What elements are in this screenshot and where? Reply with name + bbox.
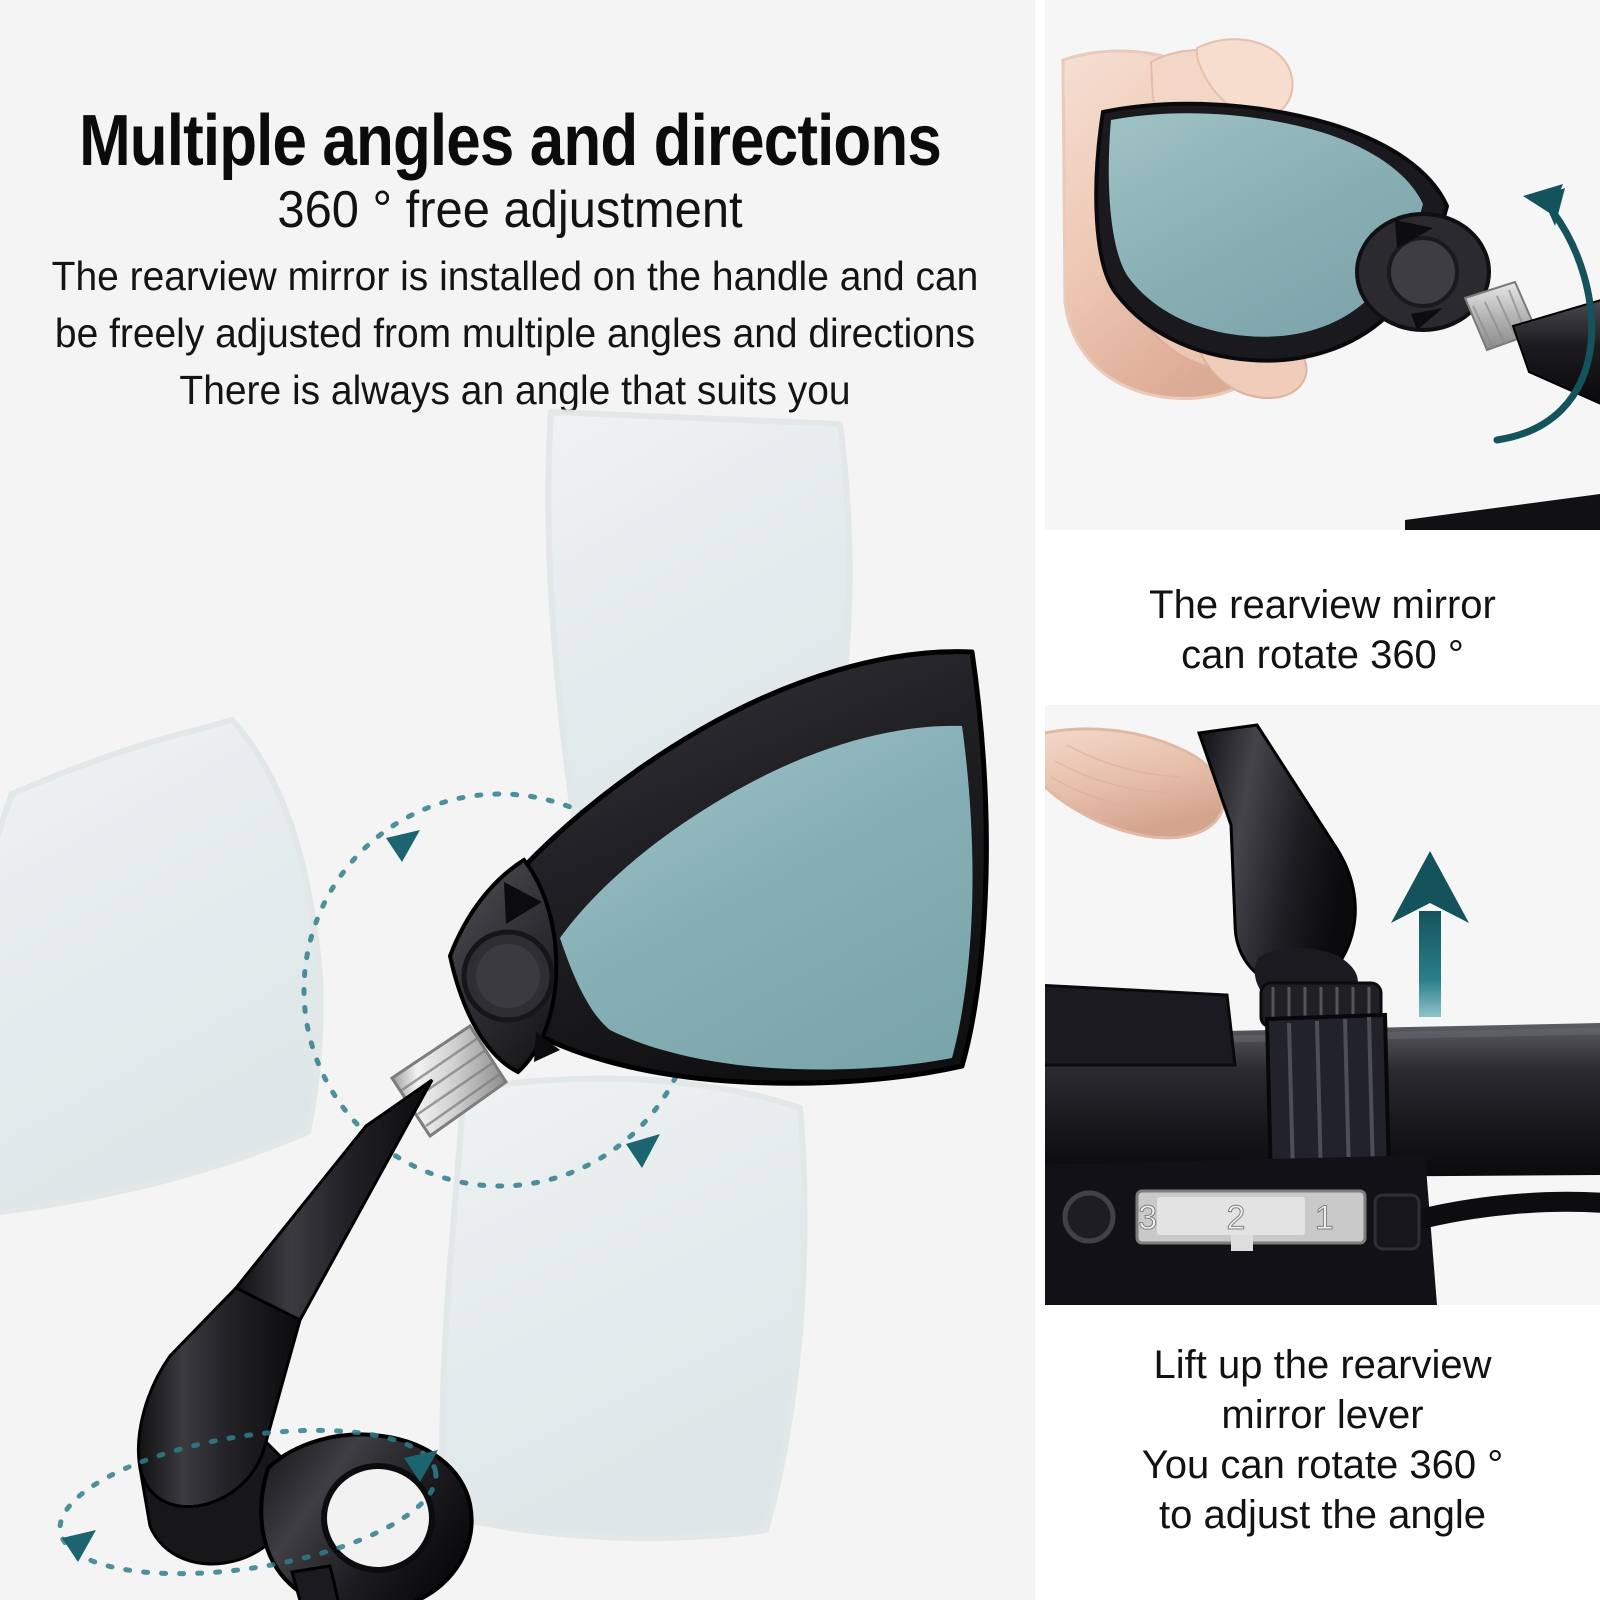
right-column: The rearview mirror can rotate 360 ° (1035, 0, 1600, 1600)
page-subtitle: 360 ° free adjustment (31, 180, 990, 240)
handlebar-clamp (261, 1434, 471, 1600)
page-title: Multiple angles and directions (71, 104, 948, 178)
base-arrow-left (62, 1530, 96, 1562)
infographic-page: Multiple angles and directions 360 ° fre… (0, 0, 1600, 1600)
hand-holding-mirror-photo (1045, 0, 1600, 530)
shifter-bolt (1065, 1193, 1113, 1241)
caption-bottom: Lift up the rearview mirror lever You ca… (1045, 1340, 1600, 1540)
caption-bottom-line-3: You can rotate 360 ° (1045, 1440, 1600, 1490)
pivot-hub-boss (476, 944, 540, 1008)
caption-bottom-line-1: Lift up the rearview (1045, 1340, 1600, 1390)
rotation-arrow-upper (386, 830, 420, 862)
lift-lever-on-handlebar-photo: 3 2 1 (1045, 705, 1600, 1305)
caption-top-line-2: can rotate 360 ° (1045, 630, 1600, 680)
caption-top: The rearview mirror can rotate 360 ° (1045, 580, 1600, 680)
body-line-2: be freely adjusted from multiple angles … (35, 305, 995, 362)
handlebar-bore (324, 1466, 432, 1570)
body-line-1: The rearview mirror is installed on the … (35, 248, 995, 305)
ghost-mirror-left (0, 720, 320, 1214)
caption-bottom-line-4: to adjust the angle (1045, 1490, 1600, 1540)
caption-top-line-1: The rearview mirror (1045, 580, 1600, 630)
caption-bottom-line-2: mirror lever (1045, 1390, 1600, 1440)
left-column: Multiple angles and directions 360 ° fre… (0, 0, 1035, 1600)
ghost-mirror-down (442, 1078, 804, 1538)
mirror-rotation-illustration (0, 390, 1035, 1600)
gear-indicator-text: 3 2 1 (1138, 1199, 1364, 1237)
